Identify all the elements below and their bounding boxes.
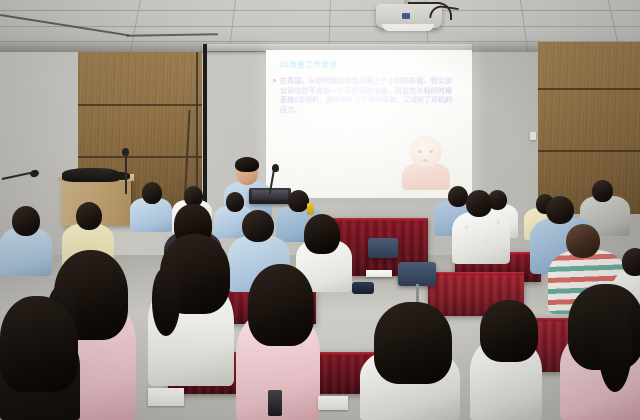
presenter-microphone [272,164,279,172]
hair [480,300,538,362]
paper-handout[interactable] [366,270,392,277]
slide-bullet-icon [273,79,276,82]
head [242,210,274,242]
mobile-phone[interactable] [268,390,282,416]
hair [374,302,452,384]
torso [452,212,510,264]
head [288,190,309,212]
head [142,182,162,204]
wall-switch[interactable] [530,132,536,140]
chair[interactable] [368,238,398,258]
projection-screen[interactable]: 01改善工作安排 在英国，从伯明翰到伦敦只需三个小时的车程，但公交公司往往不会派… [266,50,472,198]
head [12,206,40,236]
head [466,190,492,217]
wall-cable [196,52,198,202]
drink-bottle[interactable] [307,203,314,215]
hair [304,214,340,254]
slide-baby-image [396,134,458,190]
head [448,186,468,207]
podium-microphone-stand [125,152,127,194]
podium-microphone [122,148,129,156]
hair [248,264,314,346]
ponytail [152,268,180,336]
screen-left-edge [203,44,207,212]
podium-equipment [108,172,130,180]
head [76,202,102,230]
paper-handout[interactable] [148,388,184,406]
head [566,224,600,258]
projector-lens [382,24,434,31]
shoulder-bag[interactable] [352,282,374,294]
slide-body-text: 在英国，从伯明翰到伦敦只需三个小时的车程，但公交公司往往不会派一个司机驾驶全程，… [280,77,452,115]
slide-title: 01改善工作安排 [280,59,337,70]
wood-wall-panel-right [538,42,640,214]
presenter-hair [235,157,259,172]
chair[interactable] [398,262,436,286]
ponytail [598,300,632,392]
conference-room-scene: 01改善工作安排 在英国，从伯明翰到伦敦只需三个小时的车程，但公交公司往往不会派… [0,0,640,420]
head [546,196,574,224]
head [226,192,244,212]
head [622,248,640,276]
head [592,180,613,202]
paper-handout[interactable] [318,396,348,410]
hair [0,296,78,392]
